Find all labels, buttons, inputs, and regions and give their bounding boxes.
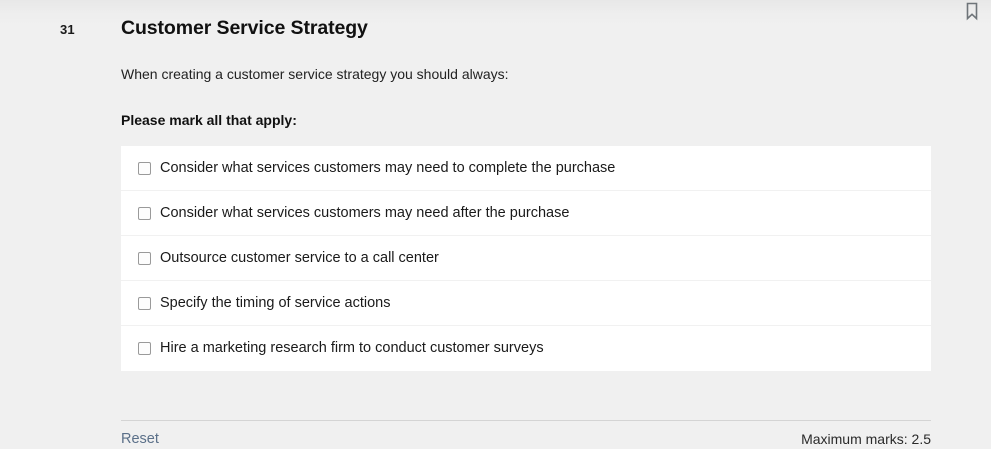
maximum-marks-label: Maximum marks: 2.5 (801, 430, 931, 448)
reset-button[interactable]: Reset (121, 430, 159, 448)
option-label: Consider what services customers may nee… (160, 204, 569, 223)
question-number: 31 (60, 22, 75, 37)
options-panel: Consider what services customers may nee… (121, 146, 931, 371)
page-title: Customer Service Strategy (121, 16, 931, 40)
option-row[interactable]: Consider what services customers may nee… (121, 191, 931, 236)
question-instruction: Please mark all that apply: (121, 110, 931, 130)
question-container: 31 Customer Service Strategy When creati… (0, 0, 991, 449)
option-label: Consider what services customers may nee… (160, 159, 615, 178)
checkbox-icon[interactable] (138, 252, 151, 265)
option-label: Hire a marketing research firm to conduc… (160, 339, 544, 358)
option-row[interactable]: Consider what services customers may nee… (121, 146, 931, 191)
bookmark-icon[interactable] (961, 1, 983, 23)
question-stem: When creating a customer service strateg… (121, 64, 931, 84)
checkbox-icon[interactable] (138, 342, 151, 355)
option-label: Specify the timing of service actions (160, 294, 391, 313)
question-footer: Reset Maximum marks: 2.5 (121, 420, 931, 449)
option-row[interactable]: Hire a marketing research firm to conduc… (121, 326, 931, 371)
option-label: Outsource customer service to a call cen… (160, 249, 439, 268)
question-content: Customer Service Strategy When creating … (121, 16, 931, 371)
option-row[interactable]: Outsource customer service to a call cen… (121, 236, 931, 281)
checkbox-icon[interactable] (138, 297, 151, 310)
checkbox-icon[interactable] (138, 207, 151, 220)
option-row[interactable]: Specify the timing of service actions (121, 281, 931, 326)
checkbox-icon[interactable] (138, 162, 151, 175)
